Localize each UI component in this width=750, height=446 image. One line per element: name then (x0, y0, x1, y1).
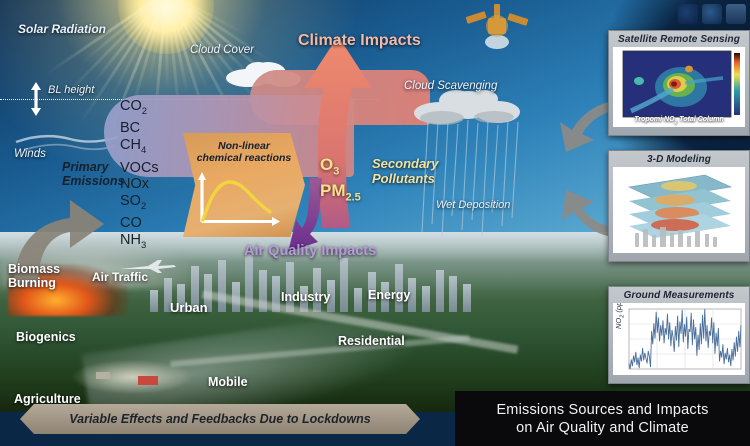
no2-timeseries-chart (613, 303, 745, 375)
farmland (72, 360, 192, 394)
panel-title-modeling: 3-D Modeling (609, 151, 749, 167)
chem-line2: chemical reactions (188, 152, 300, 164)
chem-line1: Non-linear (188, 140, 300, 152)
cloud-cover-label: Cloud Cover (190, 44, 254, 56)
ground-ylabel: NO2 (ppbv) (614, 303, 626, 329)
satellite-illustration (458, 2, 534, 52)
bl-height-label: BL height (48, 84, 94, 96)
building (422, 286, 430, 312)
source-label-urban: Urban (170, 300, 208, 315)
figure-title-line1: Emissions Sources and Impacts (496, 401, 708, 419)
model-layers-illustration (613, 167, 745, 253)
panel-title-ground: Ground Measurements (609, 287, 749, 303)
secondary-pollutant-species: O3 PM2.5 (320, 155, 361, 208)
lockdown-banner-text: Variable Effects and Feedbacks Due to Lo… (69, 412, 370, 426)
secondary-pollutant-arrow-icon (286, 28, 406, 258)
emission-species-vocs: VOCs (120, 160, 159, 177)
cloud-scavenging-label: Cloud Scavenging (404, 80, 497, 92)
panel-satellite-remote-sensing[interactable]: Satellite Remote Sensing (608, 30, 750, 136)
nonlinear-chemistry-title: Non-linear chemical reactions (188, 140, 300, 164)
figure-title-line2: on Air Quality and Climate (516, 419, 689, 437)
species-o3: O3 (320, 155, 361, 181)
panel-ground-measurements[interactable]: Ground Measurements NO2 (ppbv) (608, 286, 750, 384)
nonlinear-curve-plot (196, 168, 280, 230)
panel-body-modeling (613, 167, 745, 253)
source-label-energy: Energy (368, 288, 410, 302)
lockdown-banner: Variable Effects and Feedbacks Due to Lo… (20, 404, 420, 434)
emission-species-bc: BC (120, 120, 159, 137)
solar-radiation-label: Solar Radiation (18, 22, 106, 36)
panel-title-satellite: Satellite Remote Sensing (609, 31, 749, 47)
panel-body-ground: NO2 (ppbv) (613, 303, 745, 375)
biomass-line1: Biomass (8, 262, 60, 276)
building (354, 288, 362, 312)
source-label-biomass-burning: Biomass Burning (8, 262, 60, 290)
building (150, 290, 158, 312)
panel-three-d-modeling[interactable]: 3-D Modeling (608, 150, 750, 262)
climate-impacts-label: Climate Impacts (298, 32, 421, 50)
emission-species-ch4: CH4 (120, 137, 159, 159)
panel-body-satellite: Tropomi NO2 Total Column (613, 47, 745, 127)
species-pm25: PM2.5 (320, 181, 361, 207)
source-label-air-traffic: Air Traffic (92, 270, 148, 284)
satellite-caption: Tropomi NO2 Total Column (613, 116, 745, 125)
source-label-agriculture: Agriculture (14, 392, 81, 406)
wet-deposition-label: Wet Deposition (436, 199, 510, 211)
agency-logo (726, 4, 746, 24)
building (449, 276, 457, 312)
farm-building (96, 372, 110, 379)
source-label-residential: Residential (338, 334, 405, 348)
nasa-logo (678, 4, 698, 24)
source-label-biogenics: Biogenics (16, 330, 76, 344)
bl-height-arrow-icon (30, 82, 42, 116)
primary-emissions-line1: Primary (62, 160, 125, 174)
rainfall-icon (420, 120, 528, 240)
emission-species-co2: CO2 (120, 98, 159, 120)
building (463, 284, 471, 312)
figure-canvas: BL height Winds Solar Radiation Cloud Co… (0, 0, 750, 446)
air-quality-impacts-label: Air Quality Impacts (244, 243, 376, 259)
source-label-industry: Industry (281, 290, 330, 304)
building (340, 258, 348, 312)
biomass-line2: Burning (8, 276, 60, 290)
barn-roof (138, 376, 158, 385)
source-label-mobile: Mobile (208, 375, 248, 389)
noaa-logo (702, 4, 722, 24)
building (218, 260, 226, 312)
building (436, 270, 444, 312)
figure-title-box: Emissions Sources and Impacts on Air Qua… (455, 391, 750, 446)
